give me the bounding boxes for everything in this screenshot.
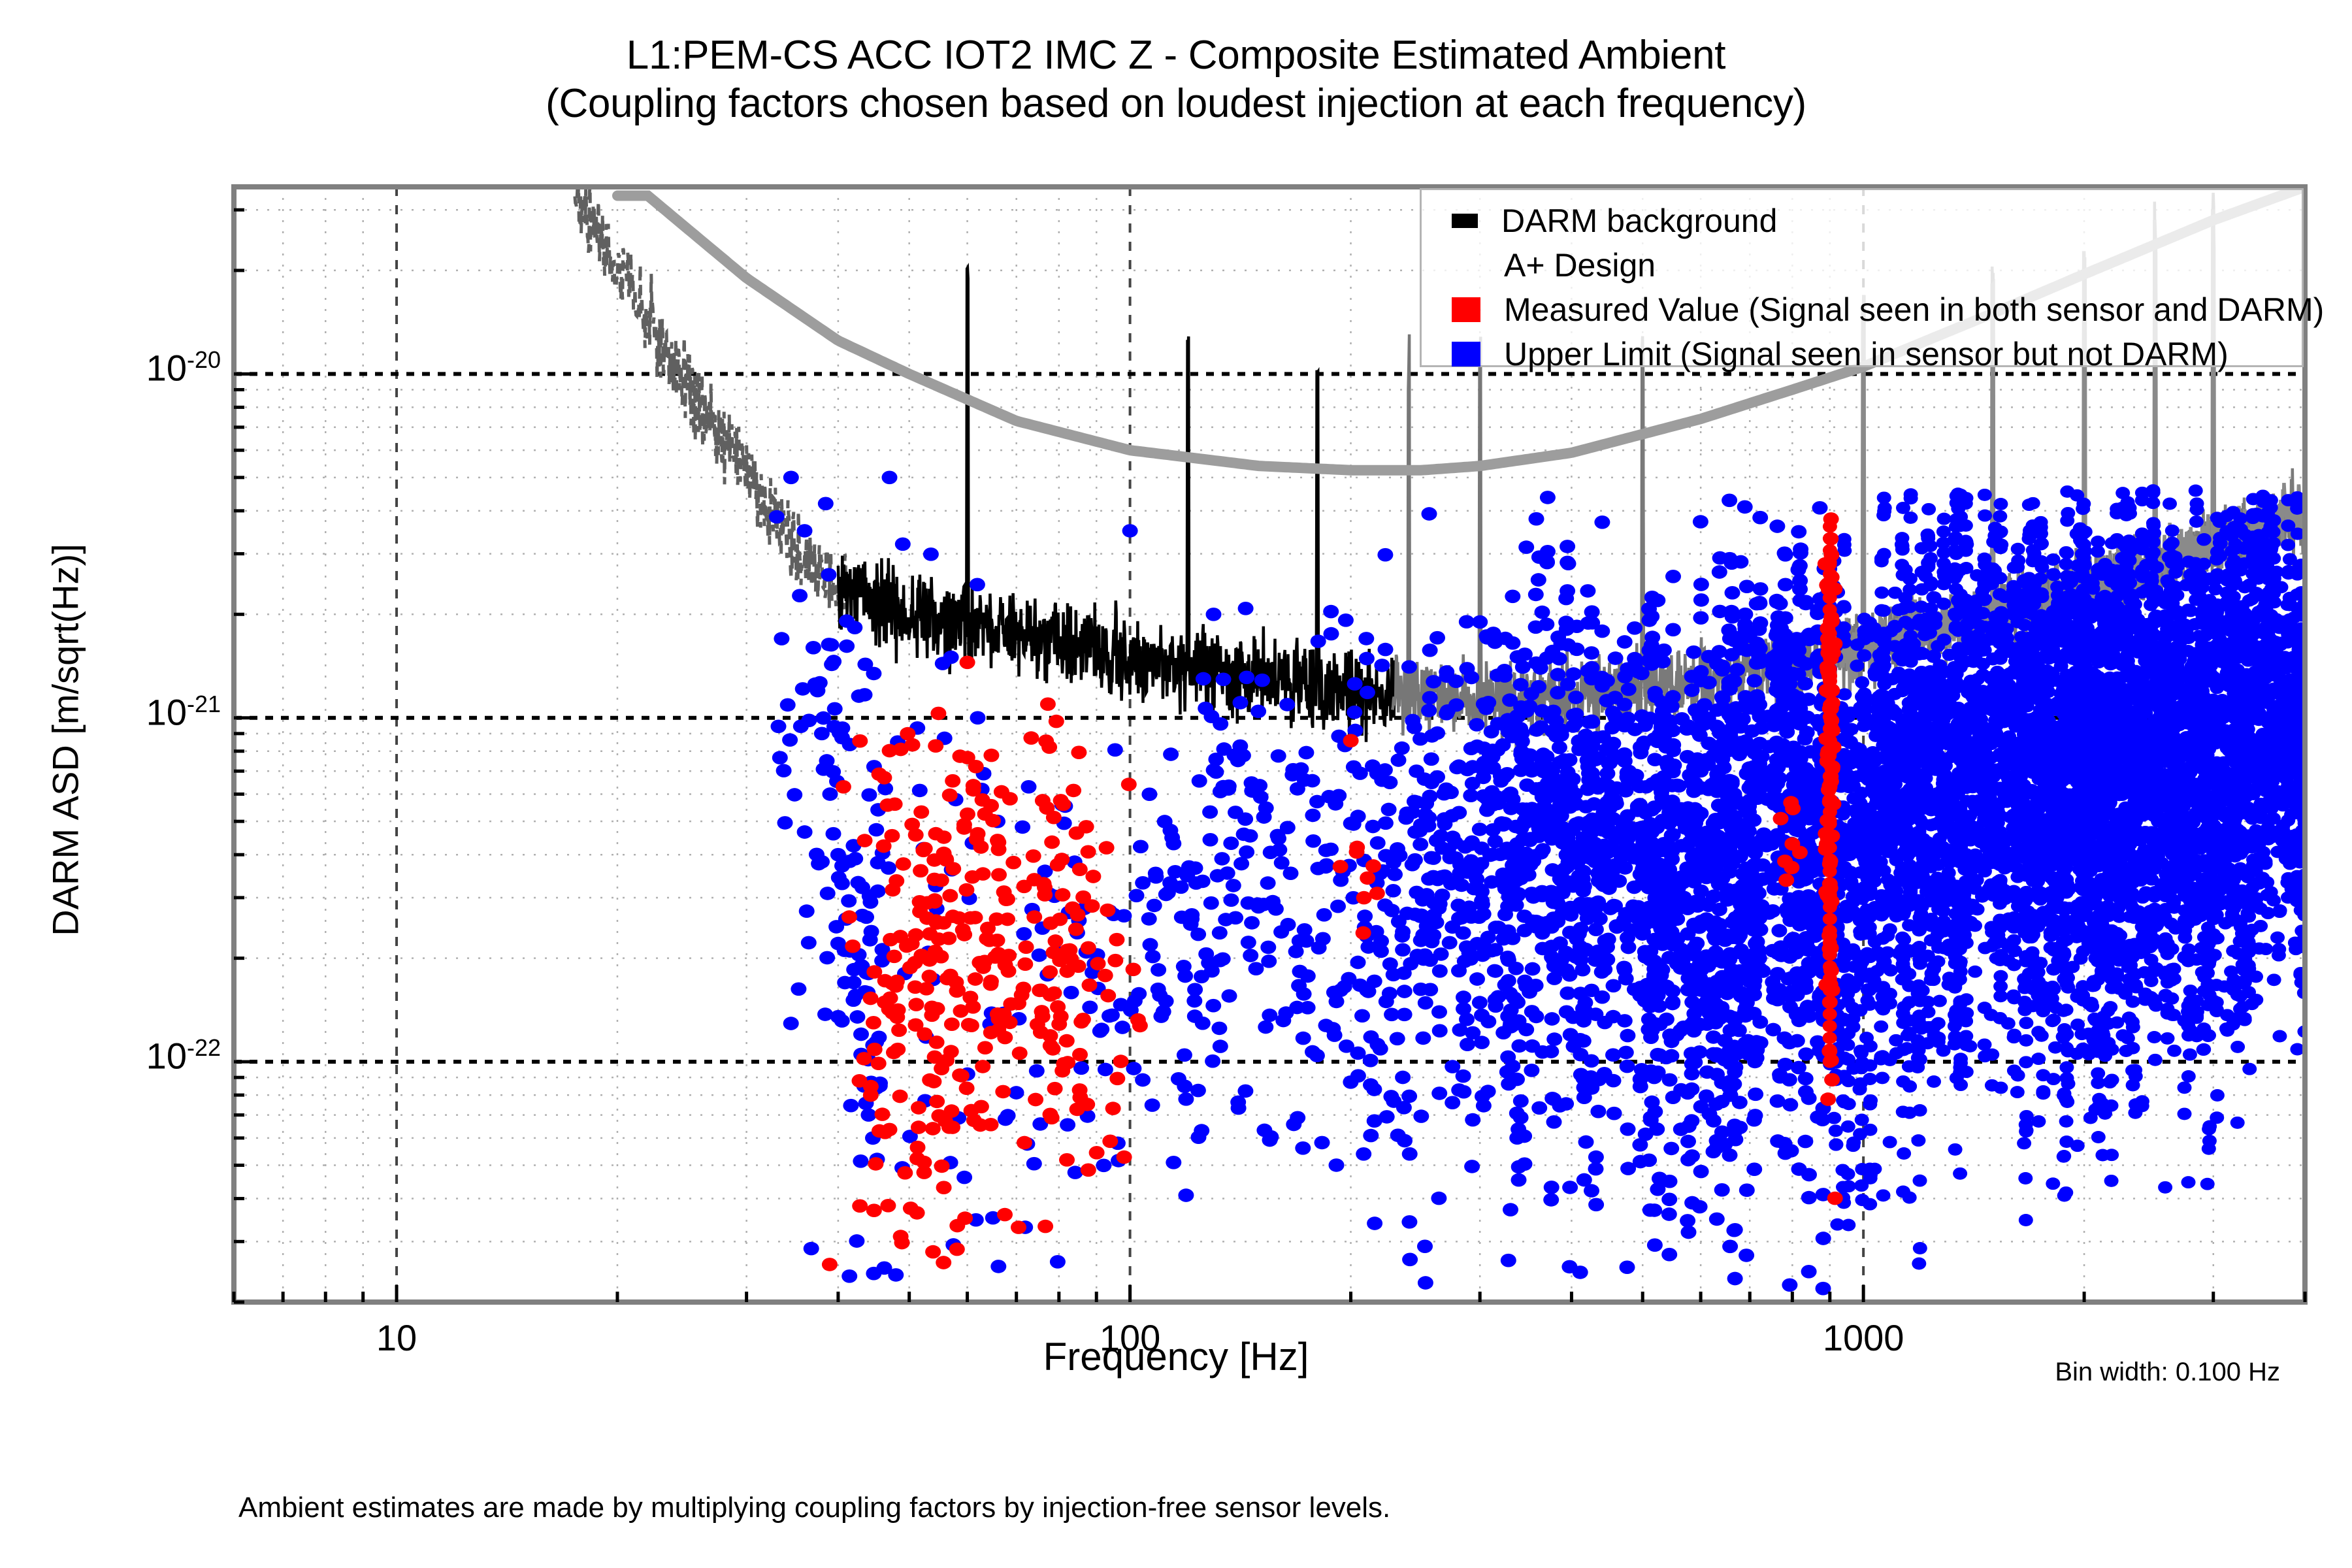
y-axis-label: DARM ASD [m/sqrt(Hz)]: [44, 512, 87, 969]
footnote-text: Ambient estimates are made by multiplyin…: [238, 1492, 1390, 1524]
legend-label-darm-background: DARM background: [1501, 204, 1777, 237]
bin-width-annotation: Bin width: 0.100 Hz: [2055, 1358, 2280, 1387]
legend-swatch-measured-value: [1452, 297, 1480, 322]
legend-item-upper-limit: Upper Limit (Signal seen in sensor but n…: [1422, 334, 2302, 374]
y-tick-label: 10-20: [25, 346, 221, 389]
y-tick-label: 10-21: [25, 691, 221, 734]
legend-label-measured-value: Measured Value (Signal seen in both sens…: [1504, 293, 2324, 326]
legend-item-measured-value: Measured Value (Signal seen in both sens…: [1422, 289, 2302, 330]
x-tick-label: 10: [344, 1316, 449, 1359]
upper-limit-points: [769, 470, 2312, 1295]
y-tick-label: 10-22: [25, 1034, 221, 1077]
chart-canvas: L1:PEM-CS ACC IOT2 IMC Z - Composite Est…: [0, 0, 2352, 1568]
legend-item-darm-background: DARM background: [1422, 201, 2302, 241]
chart-legend[interactable]: DARM background A+ Design Measured Value…: [1420, 188, 2304, 367]
legend-swatch-darm-background: [1452, 214, 1478, 228]
legend-label-aplus-design: A+ Design: [1504, 249, 1656, 282]
legend-swatch-aplus-design: [1452, 253, 1480, 278]
legend-item-aplus-design: A+ Design: [1422, 245, 2302, 286]
x-tick-label: 1000: [1811, 1316, 1916, 1359]
x-tick-label: 100: [1078, 1316, 1183, 1359]
legend-label-upper-limit: Upper Limit (Signal seen in sensor but n…: [1504, 338, 2229, 370]
legend-swatch-upper-limit: [1452, 342, 1480, 367]
